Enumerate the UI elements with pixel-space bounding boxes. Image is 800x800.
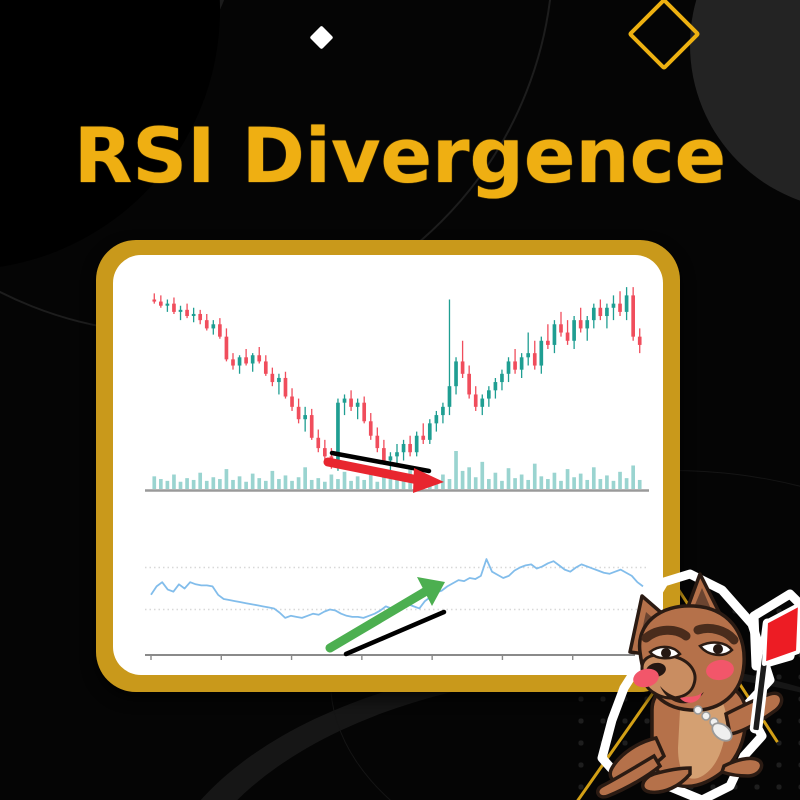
page-title: RSI Divergence — [0, 118, 800, 194]
dog-pupil-right — [713, 644, 723, 654]
dog-mascot — [594, 560, 800, 800]
dog-mascot-illustration — [594, 560, 800, 800]
diamond-outline-icon — [627, 0, 701, 71]
red-flag-icon — [764, 604, 800, 664]
dog-pupil-left — [661, 648, 671, 658]
poster-canvas: RSI Divergence Price In — [0, 0, 800, 800]
price-arrow — [328, 462, 444, 493]
annotation-overlay — [96, 240, 680, 692]
